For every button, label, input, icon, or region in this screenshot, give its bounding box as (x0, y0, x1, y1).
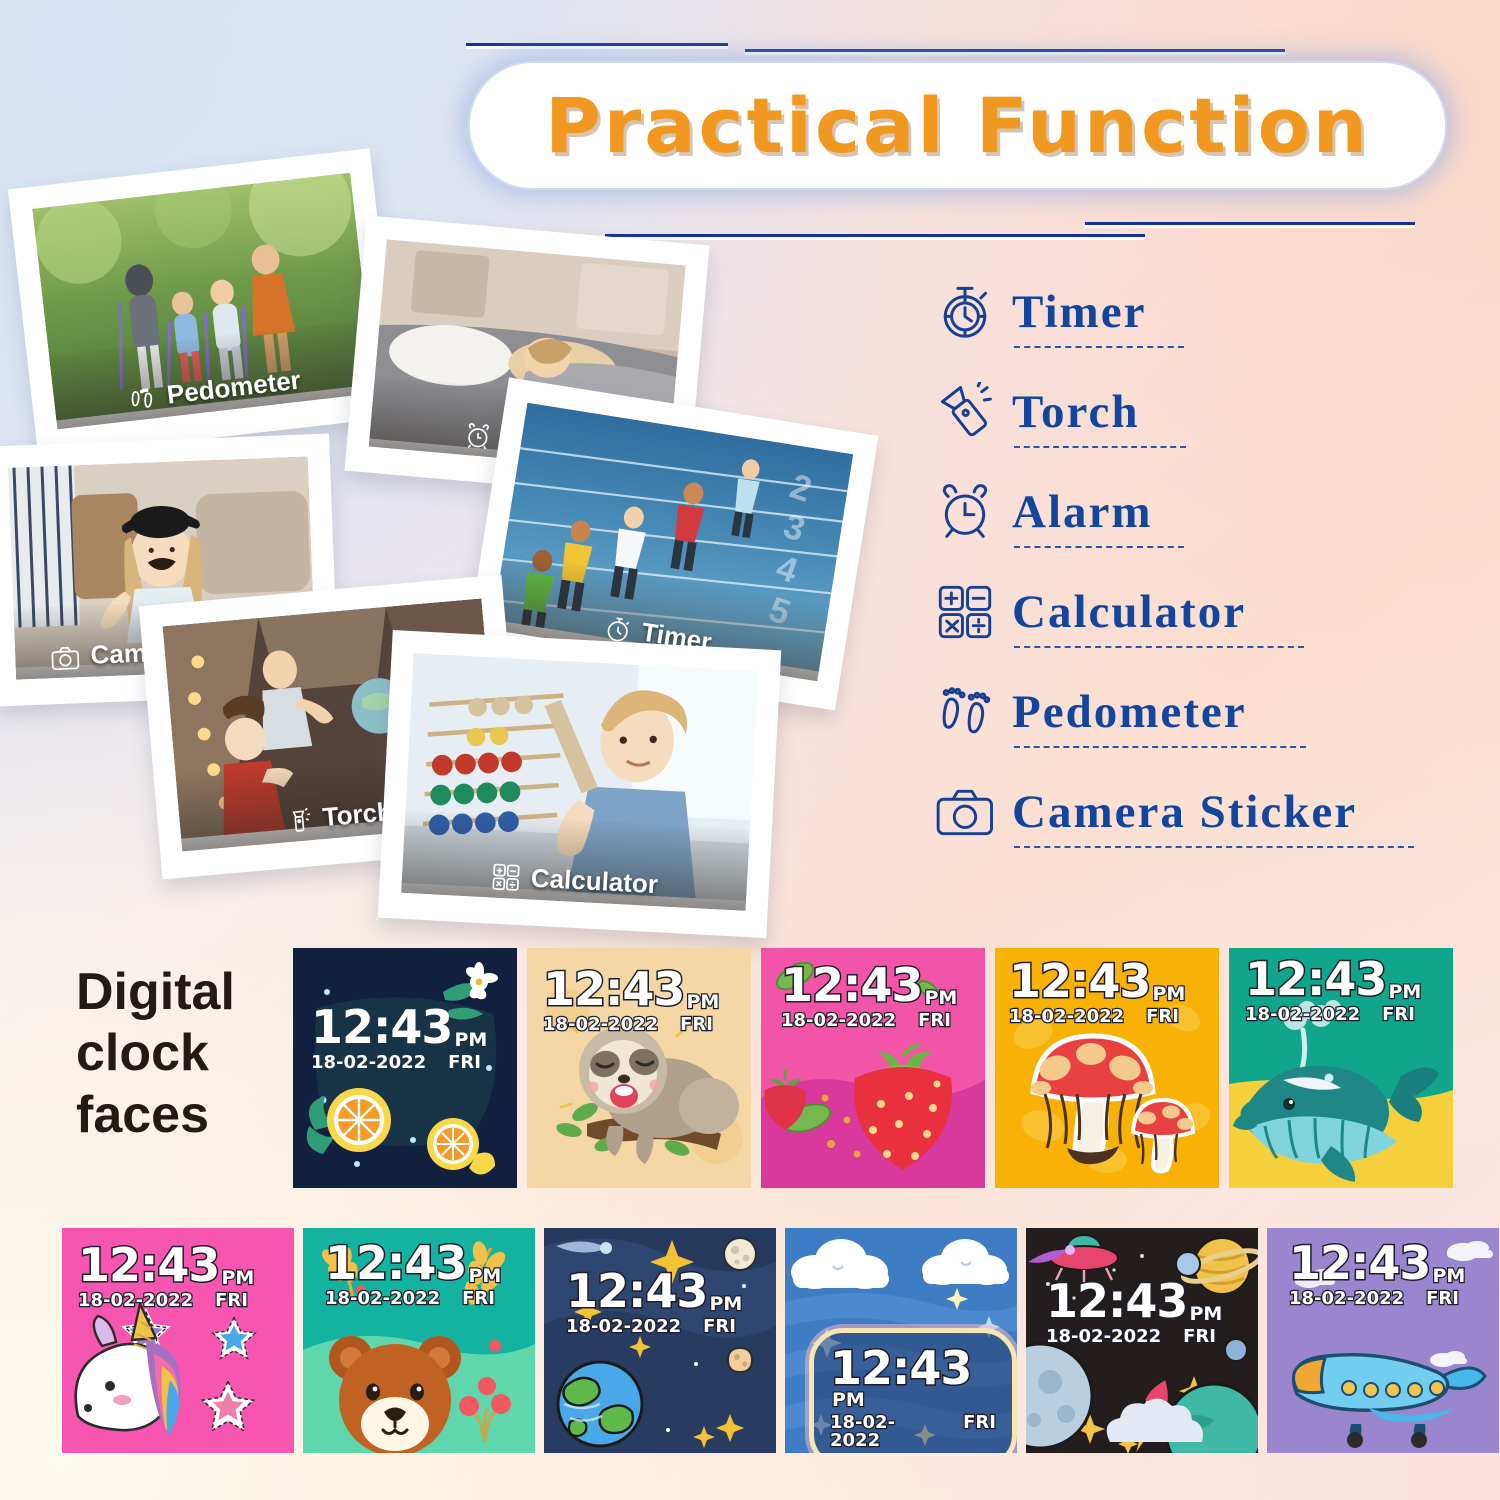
calculator-icon (490, 862, 522, 894)
clock-face-row-1: 12:43PM 18-02-2022FRI (293, 948, 1453, 1188)
earth (558, 1362, 642, 1446)
clock-face-sloth[interactable]: 12:43PM 18-02-2022FRI (527, 948, 751, 1188)
clock-time: 12:43 (311, 1004, 452, 1050)
photo-card-pedometer[interactable]: Pedometer (8, 148, 400, 457)
photo-image-pedometer: Pedometer (32, 173, 375, 430)
clock-date: 18-02-2022 (566, 1318, 681, 1336)
clock-date: 18-02-2022 (325, 1290, 440, 1308)
clock-weekday: FRI (963, 1414, 996, 1432)
clock-readout: 12:43PM 18-02-2022FRI (311, 1004, 487, 1072)
clock-meridiem: PM (468, 1267, 501, 1286)
clock-face-row-2: 12:43PM 18-02-2022FRI (62, 1228, 1499, 1453)
clock-face-whale[interactable]: 12:43PM 18-02-2022FRI (1229, 948, 1453, 1188)
feature-list: Timer Torch (932, 262, 1452, 862)
clock-weekday: FRI (215, 1292, 248, 1310)
feature-label: Calculator (1012, 585, 1246, 639)
feature-label: Torch (1012, 385, 1140, 439)
clock-time: 12:43 (1009, 958, 1150, 1004)
flashlight-icon (932, 379, 998, 445)
decor-rule-top-right (745, 49, 1285, 52)
clock-face-earth-space[interactable]: 12:43PM 18-02-2022FRI (544, 1228, 776, 1453)
stopwatch-icon (932, 279, 998, 345)
clock-date: 18-02-2022 (1046, 1328, 1161, 1346)
footprints-icon (932, 679, 998, 745)
clock-time: 12:43 (1289, 1240, 1430, 1286)
clock-meridiem: PM (454, 1031, 487, 1050)
clock-readout: 12:43PM 18-02-2022FRI (1245, 956, 1421, 1024)
feature-underline (1014, 546, 1184, 548)
clock-weekday: FRI (680, 1016, 713, 1034)
clock-weekday: FRI (1183, 1328, 1216, 1346)
clock-readout: 12:43PM 18-02-2022FRI (543, 966, 719, 1034)
feature-label: Timer (1012, 285, 1146, 339)
feature-underline (1014, 346, 1184, 348)
clock-face-lemon-night[interactable]: 12:43PM 18-02-2022FRI (293, 948, 517, 1188)
calculator-icon (932, 579, 998, 645)
photo-image-calculator: Calculator (401, 653, 758, 911)
photo-collage: Pedometer (0, 150, 900, 910)
label-line-2: clock (76, 1023, 286, 1084)
feature-label: Pedometer (1012, 685, 1247, 739)
clock-face-strawberry[interactable]: 12:43PM 18-02-2022FRI (761, 948, 985, 1188)
clock-readout: 12:43PM 18-02-2022FRI (830, 1345, 996, 1450)
clock-weekday: FRI (1382, 1006, 1415, 1024)
clock-date: 18-02-2022 (1009, 1008, 1124, 1026)
clock-face-airplane[interactable]: 12:43PM 18-02-2022FRI (1267, 1228, 1499, 1453)
feature-item-torch[interactable]: Torch (932, 362, 1452, 462)
clock-meridiem: PM (832, 1391, 865, 1410)
clock-weekday: FRI (1146, 1008, 1179, 1026)
digital-clock-faces-label: Digital clock faces (76, 962, 286, 1146)
clock-meridiem: PM (1388, 983, 1421, 1002)
clock-meridiem: PM (924, 989, 957, 1008)
clock-date: 18-02-2022 (830, 1414, 941, 1450)
clock-readout: 12:43PM 18-02-2022FRI (781, 962, 957, 1030)
clock-time: 12:43 (566, 1268, 707, 1314)
clock-readout-badge: 12:43PM 18-02-2022FRI (809, 1328, 1017, 1453)
clock-date: 18-02-2022 (543, 1016, 658, 1034)
feature-underline (1014, 746, 1306, 748)
footprints-icon (126, 382, 159, 415)
clock-meridiem: PM (221, 1269, 254, 1288)
clock-time: 12:43 (543, 966, 684, 1012)
clock-time: 12:43 (1046, 1278, 1187, 1324)
feature-label: Alarm (1012, 485, 1153, 539)
feature-item-pedometer[interactable]: Pedometer (932, 662, 1452, 762)
clock-time: 12:43 (781, 962, 922, 1008)
asteroid (728, 1348, 752, 1372)
clock-meridiem: PM (1432, 1267, 1465, 1286)
infographic-canvas: Practical Function (0, 0, 1500, 1500)
clock-time: 12:43 (325, 1240, 466, 1286)
clock-date: 18-02-2022 (1245, 1006, 1360, 1024)
clock-weekday: FRI (448, 1054, 481, 1072)
clock-readout: 12:43PM 18-02-2022FRI (78, 1242, 254, 1310)
clock-face-bear[interactable]: 12:43PM 18-02-2022FRI (303, 1228, 535, 1453)
alarm-clock-icon (463, 421, 493, 451)
camera-icon (932, 779, 998, 845)
clock-meridiem: PM (1189, 1305, 1222, 1324)
decor-rule-top-left (466, 43, 728, 46)
clock-meridiem: PM (709, 1295, 742, 1314)
clock-date: 18-02-2022 (311, 1054, 426, 1072)
feature-underline (1014, 846, 1414, 848)
clock-date: 18-02-2022 (1289, 1290, 1404, 1308)
clock-readout: 12:43PM 18-02-2022FRI (325, 1240, 501, 1308)
clock-face-clouds-sky[interactable]: 12:43PM 18-02-2022FRI (785, 1228, 1017, 1453)
earth-space-artwork (544, 1228, 776, 1453)
clock-time: 12:43 (78, 1242, 219, 1288)
feature-item-camera-sticker[interactable]: Camera Sticker (932, 762, 1452, 862)
alarm-clock-icon (932, 479, 998, 545)
photo-caption-label: Calculator (530, 863, 659, 901)
clock-weekday: FRI (703, 1318, 736, 1336)
clock-face-unicorn-stars[interactable]: 12:43PM 18-02-2022FRI (62, 1228, 294, 1453)
clock-meridiem: PM (686, 993, 719, 1012)
clock-time: 12:43 (830, 1345, 971, 1391)
feature-underline (1014, 646, 1304, 648)
clock-meridiem: PM (1152, 985, 1185, 1004)
clock-weekday: FRI (918, 1012, 951, 1030)
clock-time: 12:43 (1245, 956, 1386, 1002)
clock-weekday: FRI (1426, 1290, 1459, 1308)
clock-face-rocket-space[interactable]: 12:43PM 18-02-2022FRI (1026, 1228, 1258, 1453)
clock-date: 18-02-2022 (781, 1012, 896, 1030)
camera-icon (50, 643, 81, 672)
photo-caption-label: Pedometer (165, 365, 302, 411)
clock-readout: 12:43PM 18-02-2022FRI (1289, 1240, 1465, 1308)
flashlight-icon (286, 806, 314, 836)
clock-readout: 12:43PM 18-02-2022FRI (566, 1268, 742, 1336)
moon (724, 1238, 756, 1270)
photo-caption-calculator: Calculator (401, 811, 750, 911)
label-line-3: faces (76, 1085, 286, 1146)
photo-card-calculator[interactable]: Calculator (378, 630, 782, 938)
lemon-small (427, 1118, 495, 1175)
feature-item-alarm[interactable]: Alarm (932, 462, 1452, 562)
feature-label: Camera Sticker (1012, 785, 1357, 839)
feature-item-timer[interactable]: Timer (932, 262, 1452, 362)
decor-rule-bottom-right (1085, 222, 1415, 225)
clock-readout: 12:43PM 18-02-2022FRI (1009, 958, 1185, 1026)
clock-face-mushroom[interactable]: 12:43PM 18-02-2022FRI (995, 948, 1219, 1188)
label-line-1: Digital (76, 962, 286, 1023)
feature-item-calculator[interactable]: Calculator (932, 562, 1452, 662)
clock-date: 18-02-2022 (78, 1292, 193, 1310)
clock-weekday: FRI (462, 1290, 495, 1308)
feature-underline (1014, 446, 1186, 448)
clock-readout: 12:43PM 18-02-2022FRI (1046, 1278, 1222, 1346)
